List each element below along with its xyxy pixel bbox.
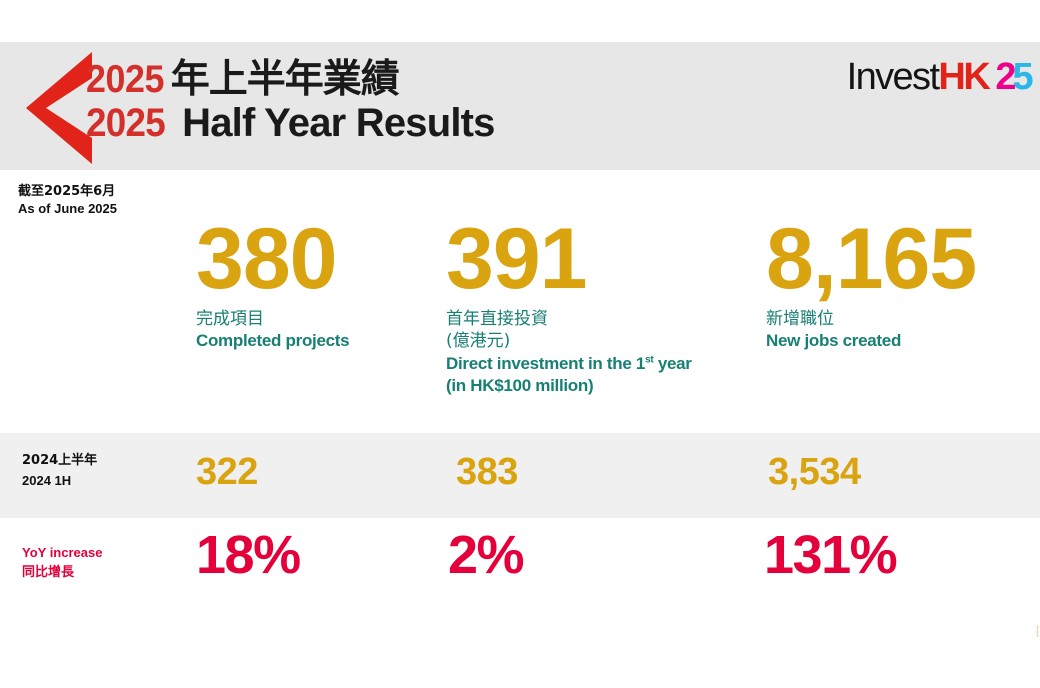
page-title-zh: 2025年上半年業績 xyxy=(86,60,495,99)
row-yoy-value-direct-investment: 2% xyxy=(448,528,523,582)
as-of-date-en: As of June 2025 xyxy=(18,201,117,218)
row-2024-first-half: 2024上半年 2024 1H 322 383 3,534 xyxy=(0,433,1040,518)
stat-value: 380 xyxy=(196,222,349,298)
page-title-en-year: 2025 xyxy=(86,103,165,143)
as-of-date-zh: 截至2025年6月 xyxy=(18,184,117,201)
logo-hk-text: HK xyxy=(938,56,988,98)
stat-label-zh: 首年直接投資 xyxy=(446,308,692,330)
page-title-en-text: Half Year Results xyxy=(182,101,495,145)
row-yoy-label: YoY increase 同比增長 xyxy=(22,543,102,583)
logo-invest-text: Invest xyxy=(847,56,939,98)
stat-column-completed-projects: 380 完成項目 Completed projects xyxy=(196,222,349,353)
page-title: 2025年上半年業績 2025 Half Year Results xyxy=(86,60,495,143)
stat-label-zh: 新增職位 xyxy=(766,308,976,330)
stat-label-en: New jobs created xyxy=(766,330,976,352)
investhk-logo: InvestHK25 xyxy=(847,58,1032,96)
row-yoy-increase: YoY increase 同比增長 18% 2% 131% xyxy=(0,518,1040,610)
stat-label-zh: 完成項目 xyxy=(196,308,349,330)
row-yoy-value-new-jobs: 131% xyxy=(764,528,896,582)
chevron-left-icon xyxy=(24,52,94,164)
stat-column-new-jobs: 8,165 新增職位 New jobs created xyxy=(766,222,976,353)
logo-two-digit: 2 xyxy=(995,56,1012,98)
stat-value: 8,165 xyxy=(766,222,976,298)
row-yoy-label-en: YoY increase xyxy=(22,543,102,563)
stat-label-zh-sub: (億港元) xyxy=(446,330,692,352)
stat-label: 新增職位 New jobs created xyxy=(766,308,976,353)
row-yoy-label-zh: 同比增長 xyxy=(22,563,102,583)
row-2024-label: 2024上半年 2024 1H xyxy=(22,451,97,491)
stat-label-en-sub: (in HK$100 million) xyxy=(446,375,692,397)
stat-label-en-pre: Direct investment in the 1 xyxy=(446,354,645,373)
page-title-zh-year: 2025 xyxy=(86,60,164,99)
page-title-zh-text: 年上半年業績 xyxy=(171,57,399,102)
stat-value: 391 xyxy=(446,222,692,298)
stat-label-en: Completed projects xyxy=(196,330,349,352)
edge-artifact: [ xyxy=(1036,624,1040,638)
as-of-date: 截至2025年6月 As of June 2025 xyxy=(18,184,117,217)
row-2024-label-en: 2024 1H xyxy=(22,471,97,491)
stat-label-en-post: year xyxy=(653,354,691,373)
stat-label: 完成項目 Completed projects xyxy=(196,308,349,353)
headline-stats-row: 380 完成項目 Completed projects 391 首年直接投資 (… xyxy=(0,222,1040,430)
row-2024-value-direct-investment: 383 xyxy=(456,453,518,491)
stat-label: 首年直接投資 (億港元) Direct investment in the 1s… xyxy=(446,308,692,398)
row-2024-value-completed-projects: 322 xyxy=(196,453,258,491)
stat-label-en: Direct investment in the 1st year xyxy=(446,353,692,375)
row-2024-label-zh: 2024上半年 xyxy=(22,451,97,471)
logo-five-digit: 5 xyxy=(1012,56,1032,98)
row-2024-value-new-jobs: 3,534 xyxy=(768,453,861,491)
row-yoy-value-completed-projects: 18% xyxy=(196,528,300,582)
stat-column-direct-investment: 391 首年直接投資 (億港元) Direct investment in th… xyxy=(446,222,692,397)
page-title-en: 2025 Half Year Results xyxy=(86,103,495,143)
